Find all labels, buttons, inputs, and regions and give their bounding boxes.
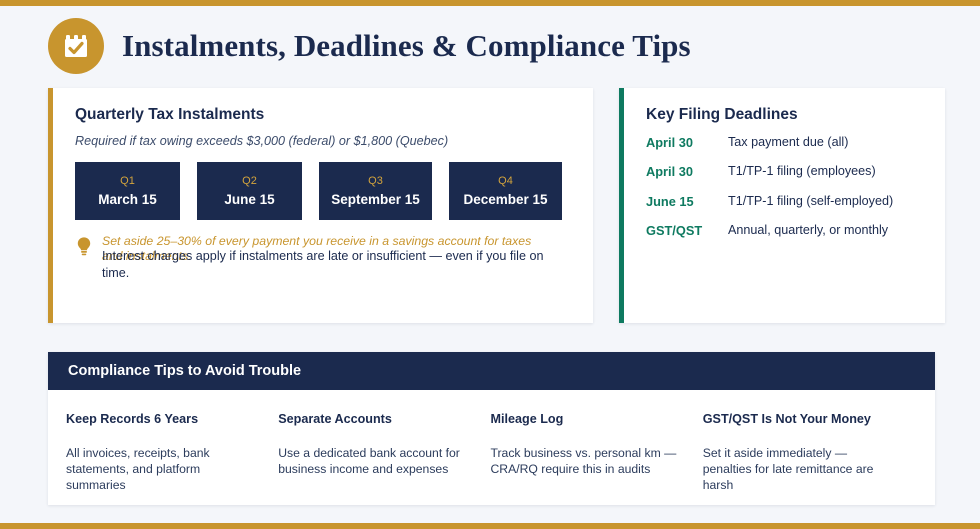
page-title: Instalments, Deadlines & Compliance Tips [122,28,691,64]
compliance-heading: Compliance Tips to Avoid Trouble [68,363,301,379]
quarter-label: Q1 [120,175,135,187]
quarter-date: September 15 [331,192,420,207]
quarter-date: December 15 [463,192,547,207]
quarter-card: Q3 September 15 [319,162,432,220]
deadline-description: T1/TP-1 filing (self-employed) [728,193,925,209]
deadline-when: April 30 [646,134,728,150]
compliance-tip-title: Keep Records 6 Years [66,412,254,426]
deadline-when: April 30 [646,163,728,179]
compliance-tip-title: Separate Accounts [278,412,466,426]
compliance-header-bar: Compliance Tips to Avoid Trouble [48,352,935,390]
compliance-tip: Mileage Log Track business vs. personal … [491,412,703,494]
compliance-tips-grid: Keep Records 6 Years All invoices, recei… [48,390,935,494]
deadline-when: June 15 [646,193,728,209]
quarter-label: Q2 [242,175,257,187]
instalments-heading: Quarterly Tax Instalments [75,106,571,124]
deadline-row: GST/QST Annual, quarterly, or monthly [646,222,925,238]
deadline-description: Annual, quarterly, or monthly [728,222,925,238]
compliance-tip: Keep Records 6 Years All invoices, recei… [66,412,278,494]
compliance-tip-title: GST/QST Is Not Your Money [703,412,891,426]
key-filing-deadlines-panel: Key Filing Deadlines April 30 Tax paymen… [619,88,945,323]
calendar-check-icon [48,18,104,74]
page-header: Instalments, Deadlines & Compliance Tips [48,18,691,74]
deadline-row: June 15 T1/TP-1 filing (self-employed) [646,193,925,209]
compliance-tips-panel: Compliance Tips to Avoid Trouble Keep Re… [48,352,935,505]
deadline-when: GST/QST [646,222,728,238]
quarter-card: Q1 March 15 [75,162,180,220]
compliance-tip: Separate Accounts Use a dedicated bank a… [278,412,490,494]
compliance-tip-body: Set it aside immediately — penalties for… [703,445,891,494]
deadline-description: Tax payment due (all) [728,134,925,150]
quarter-card-row: Q1 March 15 Q2 June 15 Q3 September 15 Q… [75,162,571,220]
quarter-card: Q2 June 15 [197,162,302,220]
lightbulb-icon [75,236,93,256]
quarter-label: Q4 [498,175,513,187]
deadline-row: April 30 Tax payment due (all) [646,134,925,150]
quarter-date: June 15 [224,192,274,207]
quarter-label: Q3 [368,175,383,187]
deadline-description: T1/TP-1 filing (employees) [728,163,925,179]
quarter-card: Q4 December 15 [449,162,562,220]
deadlines-heading: Key Filing Deadlines [646,106,925,124]
compliance-tip-title: Mileage Log [491,412,679,426]
compliance-tip: GST/QST Is Not Your Money Set it aside i… [703,412,915,494]
top-accent-rule [0,0,980,6]
compliance-tip-body: Track business vs. personal km — CRA/RQ … [491,445,679,477]
bottom-accent-rule [0,523,980,529]
compliance-tip-body: Use a dedicated bank account for busines… [278,445,466,477]
instalments-tip-block: Set aside 25–30% of every payment you re… [75,234,571,281]
quarter-date: March 15 [98,192,157,207]
deadline-row: April 30 T1/TP-1 filing (employees) [646,163,925,179]
instalments-subheading: Required if tax owing exceeds $3,000 (fe… [75,134,571,148]
quarterly-instalments-panel: Quarterly Tax Instalments Required if ta… [48,88,593,323]
instalments-tip-note: Interest charges apply if instalments ar… [102,248,554,281]
compliance-tip-body: All invoices, receipts, bank statements,… [66,445,254,494]
